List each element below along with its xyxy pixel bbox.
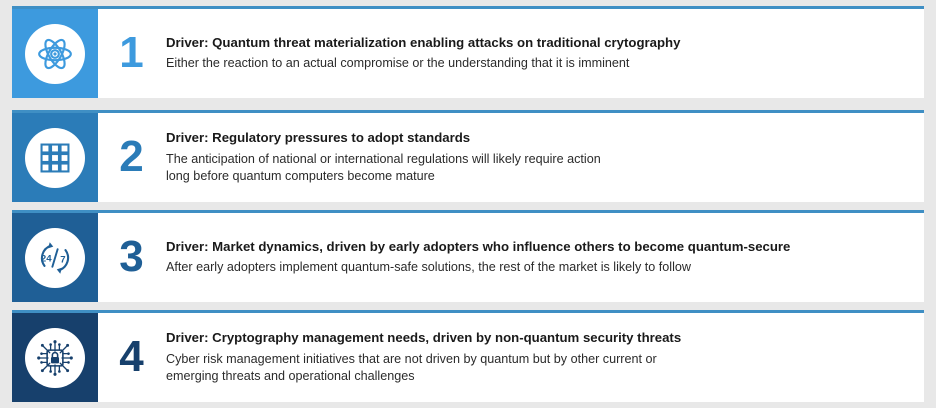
driver-subline: After early adopters implement quantum-s…: [166, 259, 914, 276]
driver-row: 2 Driver: Regulatory pressures to adopt …: [12, 110, 924, 202]
atom-icon: [35, 34, 75, 74]
drivers-board: 1 Driver: Quantum threat materialization…: [0, 0, 936, 408]
driver-number: 4: [98, 313, 164, 402]
driver-headline: Driver: Quantum threat materialization e…: [166, 35, 914, 52]
driver-subline: Cyber risk management initiatives that a…: [166, 351, 914, 385]
driver-number: 1: [98, 9, 164, 98]
driver-headline: Driver: Regulatory pressures to adopt st…: [166, 130, 914, 147]
icon-disc: [25, 328, 85, 388]
icon-disc: [25, 24, 85, 84]
driver-row: 1 Driver: Quantum threat materialization…: [12, 6, 924, 98]
driver-number: 2: [98, 113, 164, 202]
driver-text-block: Driver: Quantum threat materialization e…: [164, 9, 924, 98]
svg-text:24: 24: [41, 253, 52, 264]
driver-icon-tile: [12, 113, 98, 202]
driver-text-block: Driver: Market dynamics, driven by early…: [164, 213, 924, 302]
driver-headline: Driver: Cryptography management needs, d…: [166, 330, 914, 347]
driver-icon-tile: 24 7: [12, 213, 98, 302]
driver-text-block: Driver: Cryptography management needs, d…: [164, 313, 924, 402]
driver-icon-tile: [12, 313, 98, 402]
driver-subline: The anticipation of national or internat…: [166, 151, 914, 185]
driver-subline: Either the reaction to an actual comprom…: [166, 55, 914, 72]
grid-squares-icon: [36, 139, 74, 177]
driver-headline: Driver: Market dynamics, driven by early…: [166, 239, 914, 256]
driver-row: 4 Driver: Cryptography management needs,…: [12, 310, 924, 402]
secure-chip-lock-icon: [34, 337, 76, 379]
icon-disc: [25, 128, 85, 188]
icon-disc: 24 7: [25, 228, 85, 288]
driver-row: 24 7 3 Driver: Market dynamics, driven b…: [12, 210, 924, 302]
svg-text:7: 7: [60, 254, 65, 265]
driver-text-block: Driver: Regulatory pressures to adopt st…: [164, 113, 924, 202]
driver-number: 3: [98, 213, 164, 302]
twenty-four-seven-cycle-icon: 24 7: [34, 237, 76, 279]
driver-icon-tile: [12, 9, 98, 98]
